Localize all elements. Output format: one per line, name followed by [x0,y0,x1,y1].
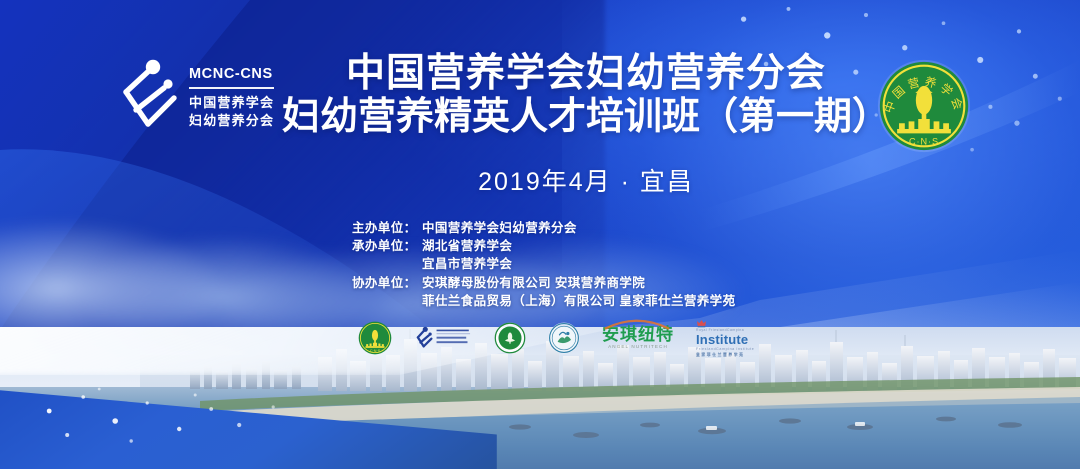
organizer-label: 主办单位： [352,219,422,237]
lockup-divider [189,87,274,89]
organizer-block: 主办单位： 中国营养学会妇幼营养分会 承办单位： 湖北省营养学会 宜昌市营养学会… [352,219,735,310]
banner-title: 中国营养学会妇幼营养分会 妇幼营养精英人才培训班（第一期） [276,52,896,138]
china-nutrition-society-seal: 中国营养学会 C·N·S [876,58,972,154]
angel-en-text: ANGEL NUTRITECH [608,345,668,350]
mcnc-cns-lockup: MCNC-CNS 中国营养学会 妇幼营养分会 [118,58,274,136]
hubei-society-seal-icon [494,322,526,354]
organizer-value: 菲仕兰食品贸易（上海）有限公司 皇家菲仕兰营养学苑 [422,292,735,310]
organizer-row: 协办单位： 安琪酵母股份有限公司 安琪营养商学院 菲仕兰食品贸易（上海）有限公司… [352,274,735,310]
mcnc-cns-lockup-text: MCNC-CNS 中国营养学会 妇幼营养分会 [189,65,274,129]
cns-abbr-text: C·N·S [370,349,381,353]
angel-nutritech-wordmark: 安琪纽特 ANGEL NUTRITECH [602,326,674,350]
sponsor-friesland-institute: Royal FrieslandCampina Institute Friesla… [696,319,754,357]
cns-seal-icon: C·N·S [358,321,392,355]
sponsor-yichang-nutrition-society [548,319,580,357]
event-date-location: 2019年4月 · 宜昌 [276,162,896,198]
title-line-1: 中国营养学会妇幼营养分会 [276,52,896,96]
organizer-values: 中国营养学会妇幼营养分会 [422,219,577,237]
yichang-society-seal-icon [548,322,580,354]
organizer-row: 承办单位： 湖北省营养学会 宜昌市营养学会 [352,237,735,273]
institute-word-text: Institute [696,333,748,346]
sponsor-logo-strip: C·N·S [358,319,754,357]
lockup-cn-line1: 中国营养学会 [189,94,274,111]
organizer-label: 承办单位： [352,237,422,255]
organizer-values: 安琪酵母股份有限公司 安琪营养商学院 菲仕兰食品贸易（上海）有限公司 皇家菲仕兰… [422,274,735,310]
friesland-crown-icon [696,319,707,328]
lockup-en-label: MCNC-CNS [189,67,274,82]
angel-cn-text: 安琪纽特 [602,326,674,343]
organizer-values: 湖北省营养学会 宜昌市营养学会 [422,237,512,273]
organizer-value: 安琪酵母股份有限公司 安琪营养商学院 [422,274,735,292]
sponsor-hubei-nutrition-society [494,319,526,357]
mcnc-cns-small-icon [414,325,472,351]
title-line-2: 妇幼营养精英人才培训班（第一期） [276,96,896,139]
organizer-value: 宜昌市营养学会 [422,255,512,273]
organizer-row: 主办单位： 中国营养学会妇幼营养分会 [352,219,735,237]
institute-wordmark: Royal FrieslandCampina Institute Friesla… [696,319,754,358]
sponsor-angel-nutritech: 安琪纽特 ANGEL NUTRITECH [602,319,674,357]
organizer-label: 协办单位： [352,274,422,292]
seal-abbr-text: C·N·S [909,136,939,146]
water-sparkles [22,381,432,451]
sponsor-cns-seal: C·N·S [358,319,392,357]
institute-sub2-text: 皇家菲仕兰营养学苑 [696,354,745,358]
institute-sub-text: FrieslandCampina Institute [696,348,754,352]
organizer-value: 湖北省营养学会 [422,237,512,255]
organizer-value: 中国营养学会妇幼营养分会 [422,219,577,237]
mcnc-cns-mother-child-icon [118,58,180,136]
conference-banner: MCNC-CNS 中国营养学会 妇幼营养分会 中国营养学会妇幼营养分会 妇幼营养… [0,0,1080,469]
sponsor-mcnc-cns [414,319,472,357]
lockup-cn-line2: 妇幼营养分会 [189,112,274,129]
